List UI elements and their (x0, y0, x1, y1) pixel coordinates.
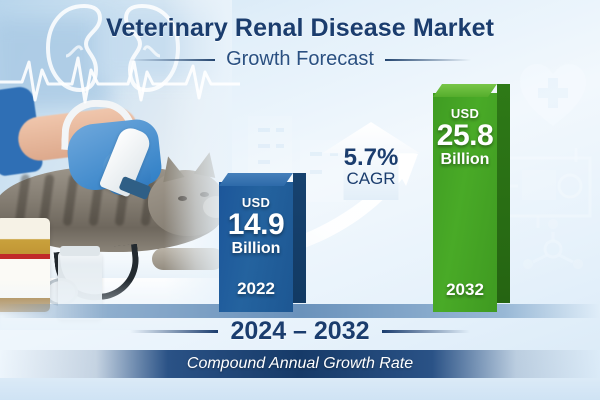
footer-banner: Compound Annual Growth Rate (0, 350, 600, 378)
molecule-watermark-icon (520, 216, 586, 282)
forecast-range: 2024 – 2032 (230, 317, 369, 346)
footer-banner-text: Compound Annual Growth Rate (187, 355, 413, 373)
subtitle-rule-left (129, 59, 215, 61)
bar-2032-top (433, 84, 497, 97)
cagr-callout[interactable]: 5.7% CAGR (322, 122, 420, 200)
bar-2032-year: 2032 (433, 280, 497, 300)
bar-2032-side (497, 84, 510, 303)
page-title: Veterinary Renal Disease Market (0, 14, 600, 43)
cagr-label: CAGR (322, 170, 420, 188)
forecast-range-row: 2024 – 2032 (0, 317, 600, 346)
bar-2032-value: 25.8 (433, 121, 497, 151)
subtitle-row: Growth Forecast (0, 48, 600, 71)
bar-2022-scale: Billion (219, 240, 293, 258)
subtitle-rule-right (385, 59, 471, 61)
bar-2032-scale: Billion (433, 151, 497, 169)
cagr-text-group: 5.7% CAGR (322, 146, 420, 188)
page-subtitle: Growth Forecast (226, 48, 374, 71)
bar-2032-value-group: USD 25.8 Billion (433, 106, 497, 169)
cagr-percent: 5.7% (322, 146, 420, 170)
bar-2022-value: 14.9 (219, 210, 293, 240)
bar-2022-side (293, 173, 306, 303)
range-rule-left (130, 330, 218, 333)
baseline (0, 304, 600, 318)
bottom-gradient (0, 378, 600, 400)
bar-2022[interactable]: USD 14.9 Billion 2022 (219, 173, 293, 312)
bar-2022-top (219, 173, 293, 186)
range-rule-right (382, 330, 470, 333)
lab-equipment-watermark-icon (498, 140, 596, 230)
infographic-canvas: Veterinary Renal Disease Market Growth F… (0, 0, 600, 400)
bar-2032[interactable]: USD 25.8 Billion 2032 (433, 84, 497, 312)
bar-2022-value-group: USD 14.9 Billion (219, 195, 293, 258)
bar-2022-year: 2022 (219, 279, 293, 299)
